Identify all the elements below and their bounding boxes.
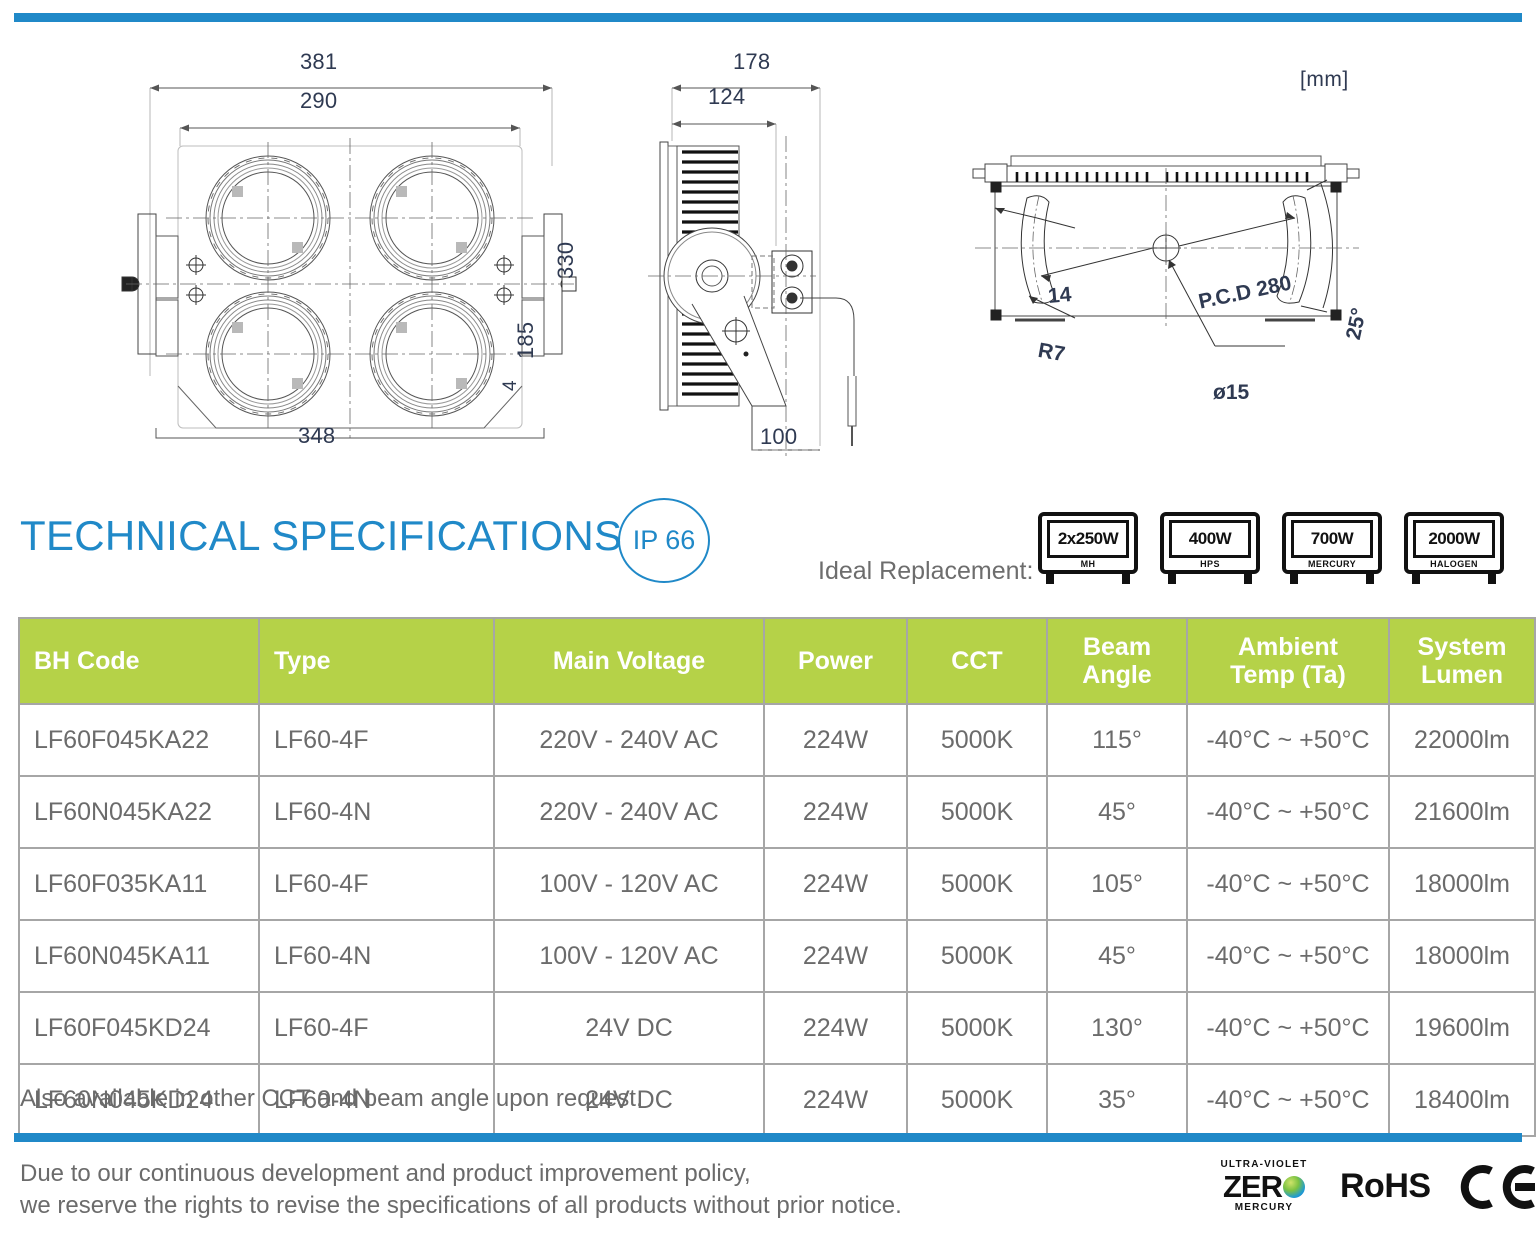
cell-beam-angle: 45° xyxy=(1047,920,1187,992)
col-header-ambient-line2: Temp (Ta) xyxy=(1230,661,1346,689)
cell-ambient: -40°C ~ +50°C xyxy=(1187,776,1389,848)
cell-cct: 5000K xyxy=(907,704,1047,776)
cell-ambient: -40°C ~ +50°C xyxy=(1187,848,1389,920)
dim-overall-depth: 178 xyxy=(733,49,770,75)
cell-lumen: 19600lm xyxy=(1389,992,1535,1064)
cell-ambient: -40°C ~ +50°C xyxy=(1187,704,1389,776)
cell-cct: 5000K xyxy=(907,992,1047,1064)
lamp-wattage: 2x250W xyxy=(1047,520,1129,558)
cell-voltage: 24V DC xyxy=(494,992,764,1064)
unit-label: [mm] xyxy=(1300,68,1349,92)
spec-sheet-page: [mm] xyxy=(0,0,1536,1240)
lamp-icon: 2x250W MH xyxy=(1038,512,1138,574)
cell-power: 224W xyxy=(764,848,907,920)
col-header-power: Power xyxy=(764,618,907,704)
zero-logo-bottom-text: MERCURY xyxy=(1212,1203,1316,1213)
ann-hole-diameter: ø15 xyxy=(1213,381,1249,405)
cell-power: 224W xyxy=(764,1064,907,1136)
col-header-ambient-temp: Ambient Temp (Ta) xyxy=(1187,618,1389,704)
cell-bh-code: LF60F035KA11 xyxy=(19,848,259,920)
cell-cct: 5000K xyxy=(907,848,1047,920)
dim-module-width: 290 xyxy=(300,88,337,114)
cell-cct: 5000K xyxy=(907,1064,1047,1136)
lamp-type: HALOGEN xyxy=(1430,559,1478,569)
lamp-wattage: 700W xyxy=(1291,520,1373,558)
dim-overall-height: 330 xyxy=(553,242,579,279)
cell-voltage: 100V - 120V AC xyxy=(494,848,764,920)
table-row: LF60F045KA22 LF60-4F 220V - 240V AC 224W… xyxy=(19,704,1535,776)
cell-lumen: 21600lm xyxy=(1389,776,1535,848)
cell-beam-angle: 115° xyxy=(1047,704,1187,776)
technical-drawings-band: [mm] xyxy=(0,26,1536,481)
cell-bh-code: LF60N045KA22 xyxy=(19,776,259,848)
lamp-type: MERCURY xyxy=(1308,559,1356,569)
cell-beam-angle: 35° xyxy=(1047,1064,1187,1136)
cell-ambient: -40°C ~ +50°C xyxy=(1187,992,1389,1064)
cell-type: LF60-4N xyxy=(259,920,494,992)
cell-bh-code: LF60F045KA22 xyxy=(19,704,259,776)
col-header-cct: CCT xyxy=(907,618,1047,704)
cell-bh-code: LF60N045KA11 xyxy=(19,920,259,992)
cell-type: LF60-4F xyxy=(259,704,494,776)
zero-logo-letters: ZER xyxy=(1223,1171,1282,1202)
cell-cct: 5000K xyxy=(907,776,1047,848)
lamp-icon: 400W HPS xyxy=(1160,512,1260,574)
lamp-icon: 700W MERCURY xyxy=(1282,512,1382,574)
ce-mark-icon xyxy=(1455,1163,1536,1211)
cell-power: 224W xyxy=(764,920,907,992)
cell-power: 224W xyxy=(764,776,907,848)
cell-power: 224W xyxy=(764,704,907,776)
bottom-view-drawing xyxy=(955,136,1385,396)
page-title: TECHNICAL SPECIFICATIONS xyxy=(20,512,622,560)
table-row: LF60N045KA22 LF60-4N 220V - 240V AC 224W… xyxy=(19,776,1535,848)
cell-voltage: 220V - 240V AC xyxy=(494,704,764,776)
lamp-icon: 2000W HALOGEN xyxy=(1404,512,1504,574)
cell-ambient: -40°C ~ +50°C xyxy=(1187,920,1389,992)
disclaimer-text: Due to our continuous development and pr… xyxy=(20,1158,902,1223)
cell-lumen: 18000lm xyxy=(1389,920,1535,992)
cell-type: LF60-4F xyxy=(259,992,494,1064)
col-header-lumen-line1: System xyxy=(1418,633,1507,661)
dim-base-depth: 100 xyxy=(760,424,797,450)
replacement-lamp-hps: 400W HPS xyxy=(1160,512,1260,584)
cell-power: 224W xyxy=(764,992,907,1064)
availability-note: Also available in other CCT and beam ang… xyxy=(20,1085,643,1113)
globe-icon xyxy=(1283,1176,1305,1198)
specifications-table: BH Code Type Main Voltage Power CCT Beam… xyxy=(18,617,1536,1137)
top-accent-rule xyxy=(14,13,1522,22)
replacement-lamp-halogen: 2000W HALOGEN xyxy=(1404,512,1504,584)
side-view-drawing xyxy=(640,46,890,476)
ip-rating-badge: IP 66 xyxy=(618,498,710,583)
col-header-bh-code: BH Code xyxy=(19,618,259,704)
cell-beam-angle: 45° xyxy=(1047,776,1187,848)
col-header-ambient-line1: Ambient xyxy=(1238,633,1338,661)
certification-marks: ULTRA-VIOLET ZER MERCURY RoHS xyxy=(1212,1160,1536,1213)
dim-base-width: 348 xyxy=(298,423,335,449)
ideal-replacement-label: Ideal Replacement: xyxy=(818,557,1033,586)
dim-body-depth: 124 xyxy=(708,84,745,110)
col-header-beam-angle: Beam Angle xyxy=(1047,618,1187,704)
table-row: LF60F035KA11 LF60-4F 100V - 120V AC 224W… xyxy=(19,848,1535,920)
ann-slot-radius: R7 xyxy=(1036,339,1067,367)
col-header-beam-angle-line2: Angle xyxy=(1082,661,1151,689)
lamp-type: MH xyxy=(1081,559,1096,569)
cell-voltage: 100V - 120V AC xyxy=(494,920,764,992)
cell-lumen: 22000lm xyxy=(1389,704,1535,776)
cell-cct: 5000K xyxy=(907,920,1047,992)
col-header-lumen-line2: Lumen xyxy=(1421,661,1503,689)
lamp-legs xyxy=(1160,574,1260,584)
cell-beam-angle: 130° xyxy=(1047,992,1187,1064)
lamp-type: HPS xyxy=(1200,559,1220,569)
table-header-row: BH Code Type Main Voltage Power CCT Beam… xyxy=(19,618,1535,704)
cell-ambient: -40°C ~ +50°C xyxy=(1187,1064,1389,1136)
cell-bh-code: LF60F045KD24 xyxy=(19,992,259,1064)
lamp-wattage: 400W xyxy=(1169,520,1251,558)
cell-lumen: 18000lm xyxy=(1389,848,1535,920)
cell-type: LF60-4N xyxy=(259,776,494,848)
zero-logo-word: ZER xyxy=(1212,1171,1316,1202)
zero-mercury-logo: ULTRA-VIOLET ZER MERCURY xyxy=(1212,1160,1316,1213)
disclaimer-line-1: Due to our continuous development and pr… xyxy=(20,1158,902,1190)
table-row: LF60N045KA11 LF60-4N 100V - 120V AC 224W… xyxy=(19,920,1535,992)
rohs-logo: RoHS xyxy=(1340,1167,1431,1206)
front-view-drawing xyxy=(120,46,600,476)
ideal-replacement-icons: 2x250W MH 400W HPS 700W MERCURY 2000W HA… xyxy=(1038,512,1504,584)
dim-overall-width: 381 xyxy=(300,49,337,75)
cell-voltage: 220V - 240V AC xyxy=(494,776,764,848)
dim-foot-thickness: 4 xyxy=(500,380,522,391)
dim-mount-height: 185 xyxy=(513,322,539,359)
replacement-lamp-mercury: 700W MERCURY xyxy=(1282,512,1382,584)
cell-type: LF60-4F xyxy=(259,848,494,920)
col-header-main-voltage: Main Voltage xyxy=(494,618,764,704)
lamp-wattage: 2000W xyxy=(1413,520,1495,558)
lamp-legs xyxy=(1038,574,1138,584)
col-header-system-lumen: System Lumen xyxy=(1389,618,1535,704)
col-header-type: Type xyxy=(259,618,494,704)
ann-slot-width: 14 xyxy=(1047,283,1072,309)
table-row: LF60F045KD24 LF60-4F 24V DC 224W 5000K 1… xyxy=(19,992,1535,1064)
cell-lumen: 18400lm xyxy=(1389,1064,1535,1136)
disclaimer-line-2: we reserve the rights to revise the spec… xyxy=(20,1190,902,1222)
lamp-legs xyxy=(1404,574,1504,584)
col-header-beam-angle-line1: Beam xyxy=(1083,633,1151,661)
replacement-lamp-mh: 2x250W MH xyxy=(1038,512,1138,584)
lamp-legs xyxy=(1282,574,1382,584)
cell-beam-angle: 105° xyxy=(1047,848,1187,920)
bottom-accent-rule xyxy=(14,1133,1522,1142)
